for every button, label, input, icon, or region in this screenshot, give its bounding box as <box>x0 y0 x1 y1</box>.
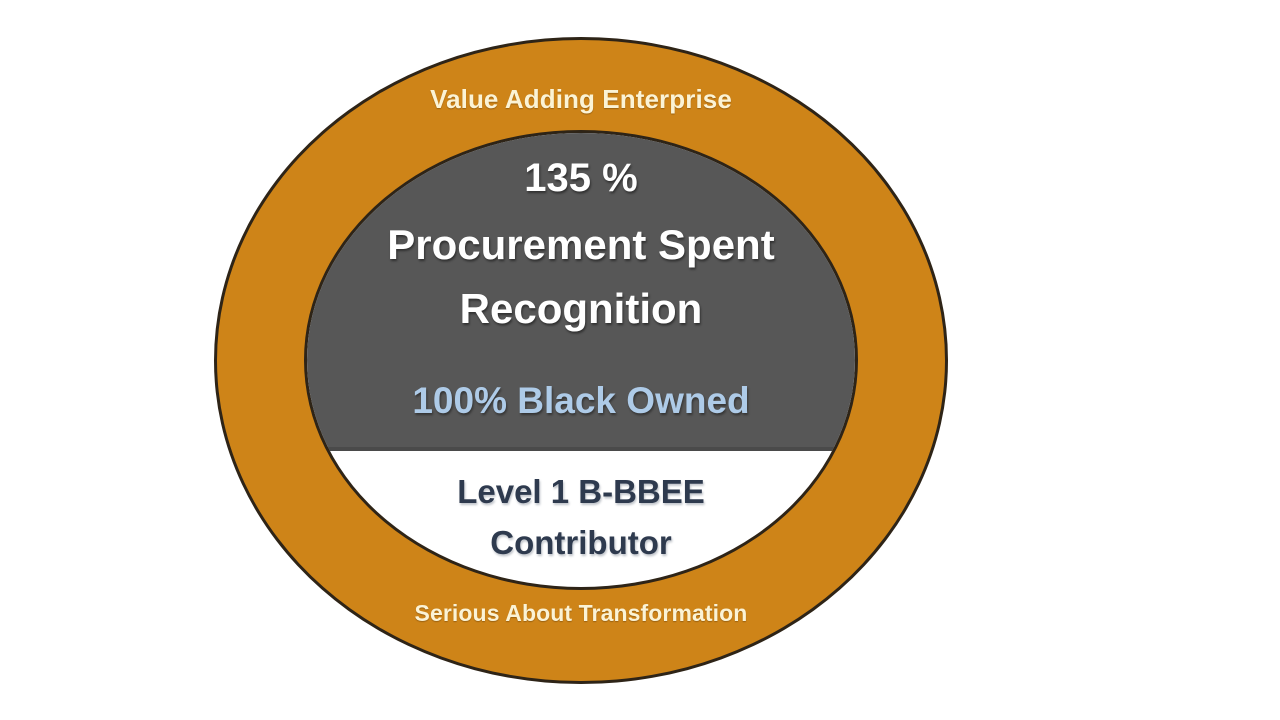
bbbee-badge-graphic: Value Adding Enterprise 135 % Procuremen… <box>0 0 1280 720</box>
ring-caption-bottom: Serious About Transformation <box>214 600 948 627</box>
inner-disc-upper-section <box>307 133 855 451</box>
ring-caption-top: Value Adding Enterprise <box>214 84 948 115</box>
inner-disc <box>304 130 858 590</box>
